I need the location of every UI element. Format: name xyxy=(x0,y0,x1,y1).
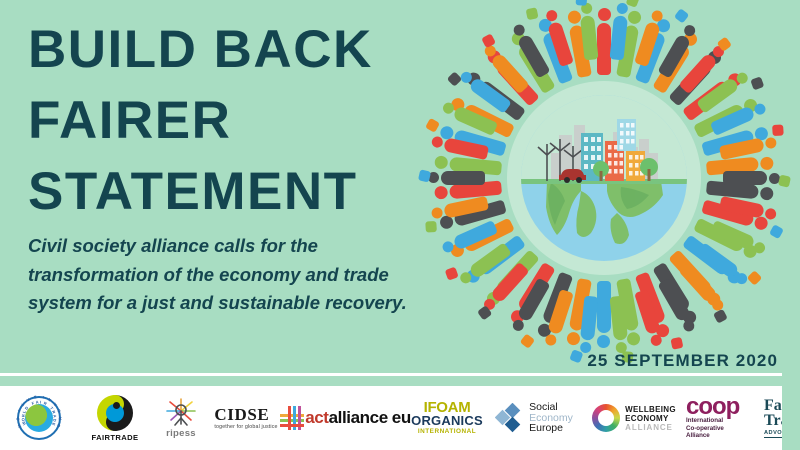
person-figure xyxy=(597,264,611,348)
coop-line2: Co-operative xyxy=(686,425,724,433)
globe-ground xyxy=(521,179,687,184)
accent-dot xyxy=(444,266,458,280)
ifoam-line1: IFOAM xyxy=(424,401,471,414)
logo-wellbeing-economy-alliance: WELLBEING ECONOMY ALLIANCE xyxy=(582,390,686,446)
logo-social-economy-europe: Social Economy Europe xyxy=(486,390,582,446)
logo-ripess: ripess xyxy=(152,390,210,446)
wea-ring-icon xyxy=(592,404,620,432)
accent-dot xyxy=(519,333,534,348)
see-line3: Europe xyxy=(529,423,573,434)
ripess-label: ripess xyxy=(166,428,196,439)
logo-fairtrade: FAIRTRADE xyxy=(78,390,152,446)
person-figure xyxy=(712,171,780,185)
wea-line2: ECONOMY xyxy=(625,414,676,423)
title-line-1: BUILD BACK xyxy=(28,14,448,85)
wea-line3: ALLIANCE xyxy=(625,423,676,432)
wea-line1: WELLBEING xyxy=(625,405,676,414)
actalliance-alliance: alliance xyxy=(329,408,388,428)
fairtrade-label: FAIRTRADE xyxy=(91,433,138,442)
accent-dot xyxy=(525,7,538,20)
people-circle-globe-illustration xyxy=(418,0,790,364)
logo-coop: coop International Co-operative Alliance xyxy=(686,390,764,446)
title-line-3: STATEMENT xyxy=(28,156,448,227)
person-figure xyxy=(597,8,611,92)
divider-rule xyxy=(0,373,800,376)
logo-actalliance: actallianceeu xyxy=(308,390,408,446)
accent-dot xyxy=(746,270,762,286)
page-title: BUILD BACK FAIRER STATEMENT xyxy=(28,14,448,227)
ifoam-line3: INTERNATIONAL xyxy=(418,427,476,436)
subtitle: Civil society alliance calls for the tra… xyxy=(28,232,438,318)
wfto-seal-icon: WORLD FAIR TRADEORGANIZATION xyxy=(17,396,61,440)
event-date: 25 SEPTEMBER 2020 xyxy=(587,351,778,371)
accent-dot xyxy=(750,76,764,90)
accent-dot xyxy=(768,224,783,239)
logo-ifoam: IFOAM ORGANICS INTERNATIONAL xyxy=(408,390,486,446)
coop-line3: Alliance xyxy=(686,432,710,440)
accent-dot xyxy=(446,71,462,87)
see-diamond-icon xyxy=(495,403,525,433)
cidse-weave-icon xyxy=(280,406,304,430)
partner-logo-bar: WORLD FAIR TRADEORGANIZATION FAIRTRADE xyxy=(0,386,782,450)
title-line-2: FAIRER xyxy=(28,85,448,156)
accent-dot xyxy=(670,336,683,349)
cidse-tagline: together for global justice xyxy=(214,425,277,431)
logo-wfto: WORLD FAIR TRADEORGANIZATION xyxy=(0,390,78,446)
cidse-wordmark: CIDSE xyxy=(214,406,277,424)
poster-canvas: BUILD BACK FAIRER STATEMENT Civil societ… xyxy=(0,0,800,450)
fairtrade-yin-yang-icon xyxy=(97,395,133,431)
globe-land xyxy=(546,181,663,244)
ripess-starburst-icon xyxy=(164,398,198,428)
accent-dot xyxy=(673,8,688,23)
right-green-edge xyxy=(782,373,800,450)
globe-illustration xyxy=(521,95,687,261)
logo-cidse: CIDSE together for global justice xyxy=(210,390,308,446)
accent-dot xyxy=(777,174,790,187)
accent-dot xyxy=(575,0,587,5)
accent-dot xyxy=(772,124,784,136)
buildings xyxy=(581,119,645,181)
coop-line1: International xyxy=(686,417,723,425)
wfto-ring-text: WORLD FAIR TRADEORGANIZATION xyxy=(19,398,59,438)
ifoam-line2: ORGANICS xyxy=(411,414,483,427)
coop-wordmark: coop xyxy=(686,396,739,417)
actalliance-act: act xyxy=(305,408,328,428)
